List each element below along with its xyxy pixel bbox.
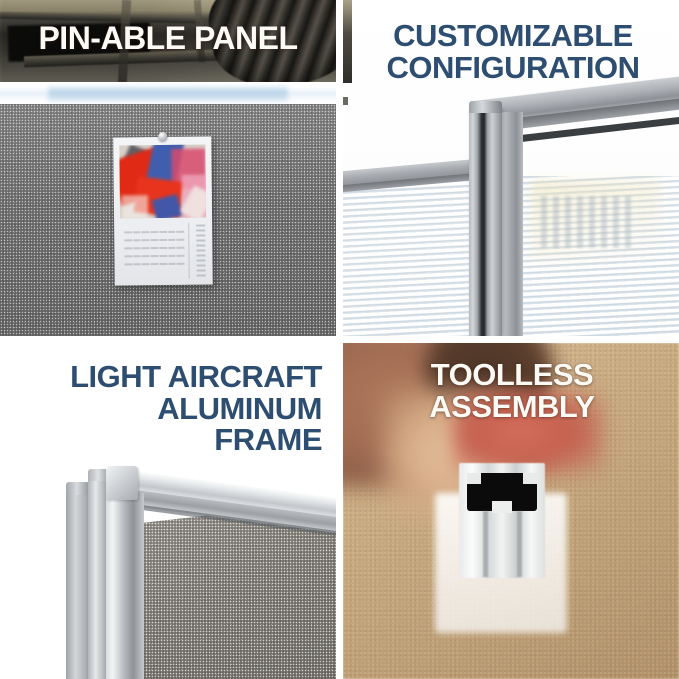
panel-caption-customizable-configuration: CUSTOMIZABLE CONFIGURATION [357, 20, 669, 83]
calendar-date-grid [124, 229, 184, 274]
extrusion-rib-left [483, 511, 488, 577]
corner-post [469, 108, 502, 336]
frame-post-cap-left [66, 482, 90, 495]
panel-light-aircraft-aluminum-frame: LIGHT AIRCRAFT ALUMINUM FRAME [0, 343, 336, 679]
vertical-frame-post-left [66, 491, 90, 679]
extrusion-notch-right [523, 473, 537, 484]
calendar-month-label [196, 225, 206, 277]
panel-customizable-configuration: CUSTOMIZABLE CONFIGURATION [343, 0, 679, 336]
panel-pin-able-panel: PIN-ABLE PANEL [0, 0, 336, 336]
extrusion-notch-left [467, 473, 481, 484]
panel-toolless-assembly: TOOLLESS ASSEMBLY [343, 343, 679, 679]
panel-caption-toolless-assembly: TOOLLESS ASSEMBLY [359, 359, 665, 422]
feature-collage: PIN-ABLE PANEL CUSTOMIZABLE CONFIGURATIO… [0, 0, 679, 679]
push-pin-icon [158, 132, 167, 141]
fluorescent-light-strip [0, 82, 336, 105]
extrusion-tongue [492, 501, 512, 513]
wall-calendar [113, 136, 213, 285]
frame-corner-joint [106, 466, 138, 500]
panel-caption-pin-able-panel: PIN-ABLE PANEL [12, 22, 324, 55]
corner-post-cap [469, 101, 502, 113]
calendar-artwork [119, 145, 206, 219]
building-through-window [541, 196, 637, 248]
ceiling-edge-sliver [343, 97, 348, 105]
panel-caption-light-aircraft-aluminum-frame: LIGHT AIRCRAFT ALUMINUM FRAME [10, 361, 322, 456]
ceiling-edge-sliver [343, 0, 352, 83]
vertical-frame-post-main [106, 493, 144, 679]
calendar-divider [188, 223, 190, 279]
extrusion-rib-right [517, 511, 522, 577]
